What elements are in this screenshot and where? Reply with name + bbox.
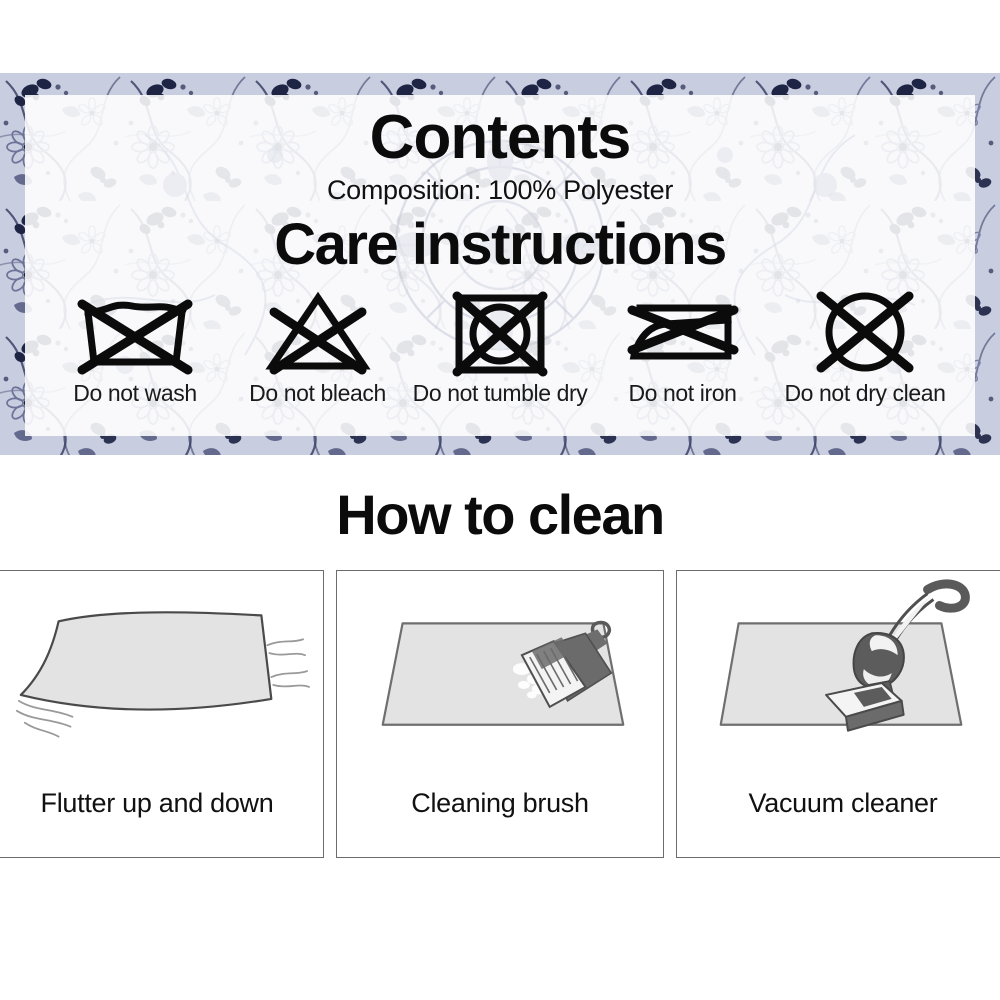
fluttering-fabric-icon	[0, 577, 323, 785]
care-symbol-row: Do not wash Do not bleach	[25, 286, 975, 407]
cleaning-brush-icon	[337, 577, 663, 785]
contents-title: Contents	[25, 107, 975, 169]
do-not-iron-icon	[595, 286, 771, 378]
care-symbol-do-not-bleach: Do not bleach	[230, 286, 406, 407]
composition-text: Composition: 100% Polyester	[25, 175, 975, 206]
clean-panel-label: Flutter up and down	[0, 788, 323, 819]
vacuum-cleaner-icon	[677, 577, 1000, 785]
care-symbol-label: Do not iron	[595, 380, 771, 407]
do-not-wash-icon	[47, 286, 223, 378]
do-not-dry-clean-icon	[777, 286, 953, 378]
care-instructions-banner: Contents Composition: 100% Polyester Car…	[0, 73, 1000, 455]
care-symbol-label: Do not wash	[47, 380, 223, 407]
care-symbol-do-not-tumble-dry: Do not tumble dry	[412, 286, 588, 407]
do-not-tumble-dry-icon	[412, 286, 588, 378]
how-to-clean-panels: Flutter up and down	[0, 570, 1000, 860]
care-symbol-do-not-wash: Do not wash	[47, 286, 223, 407]
care-symbol-label: Do not bleach	[230, 380, 406, 407]
do-not-bleach-icon	[230, 286, 406, 378]
care-symbol-label: Do not dry clean	[777, 380, 953, 407]
care-symbol-do-not-dry-clean: Do not dry clean	[777, 286, 953, 407]
clean-panel-label: Vacuum cleaner	[677, 788, 1000, 819]
care-instructions-title: Care instructions	[25, 216, 975, 274]
clean-panel-brush: Cleaning brush	[336, 570, 664, 858]
clean-panel-vacuum: Vacuum cleaner	[676, 570, 1000, 858]
care-symbol-do-not-iron: Do not iron	[595, 286, 771, 407]
care-symbol-label: Do not tumble dry	[412, 380, 588, 407]
clean-panel-flutter: Flutter up and down	[0, 570, 324, 858]
clean-panel-label: Cleaning brush	[337, 788, 663, 819]
how-to-clean-title: How to clean	[0, 487, 1000, 543]
